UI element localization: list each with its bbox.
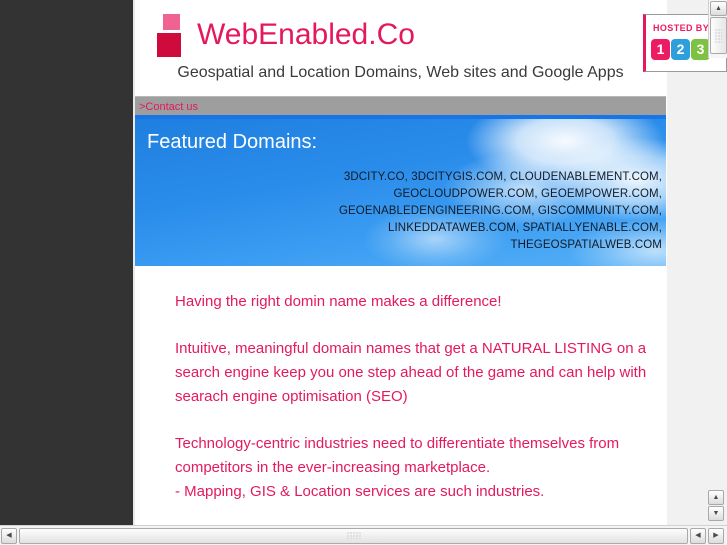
hosted-block-2: 2 (671, 39, 690, 60)
left-dark-panel (0, 0, 133, 525)
body-paragraph-2: Intuitive, meaningful domain names that … (175, 337, 656, 409)
scroll-left-button[interactable]: ◀ (1, 528, 17, 544)
grip-icon (715, 29, 722, 43)
horizontal-scrollbar-track[interactable] (19, 528, 688, 544)
scroll-right-button-end[interactable]: ▶ (708, 528, 724, 544)
chevron-left-icon: ◀ (695, 532, 700, 539)
site-header: WebEnabled.Co Geospatial and Location Do… (135, 0, 666, 97)
body-paragraph-3-line-2: - Mapping, GIS & Location services are s… (175, 483, 544, 500)
chevron-up-icon: ▲ (713, 494, 720, 501)
brand-title: WebEnabled.Co (197, 18, 415, 52)
chevron-up-icon: ▲ (715, 5, 722, 12)
scroll-up-button[interactable]: ▲ (710, 1, 727, 16)
web-page-content: WebEnabled.Co Geospatial and Location Do… (135, 0, 666, 525)
domain-line: THEGEOSPATIALWEB.COM (232, 237, 662, 254)
right-gutter (666, 0, 727, 525)
body-copy: Having the right domin name makes a diff… (135, 266, 666, 504)
nav-bar: >Contact us (135, 97, 666, 119)
chevron-left-icon: ◀ (6, 532, 11, 539)
banner-heading: Featured Domains: (147, 131, 317, 154)
horizontal-scrollbar[interactable]: ◀ ◀ ▶ (0, 525, 727, 545)
browser-viewport: WebEnabled.Co Geospatial and Location Do… (0, 0, 727, 545)
site-tagline: Geospatial and Location Domains, Web sit… (135, 64, 666, 82)
vertical-scrollbar-top[interactable]: ▲ (708, 0, 727, 58)
nav-link-contact-us[interactable]: >Contact us (139, 101, 198, 113)
logo-square-bottom-icon (157, 33, 181, 57)
vertical-scrollbar-bottom[interactable]: ▲ ▼ (708, 490, 726, 522)
domain-line: GEOCLOUDPOWER.COM, GEOEMPOWER.COM, (232, 186, 662, 203)
logo-square-top-icon (163, 14, 180, 30)
horizontal-scrollbar-endcaps[interactable]: ◀ ▶ (689, 528, 725, 544)
scroll-down-button[interactable]: ▼ (708, 506, 724, 521)
brand-row[interactable]: WebEnabled.Co (135, 6, 415, 64)
vertical-scrollbar-thumb[interactable] (710, 17, 727, 54)
featured-domain-list: 3DCITY.CO, 3DCITYGIS.COM, CLOUDENABLEMEN… (232, 169, 662, 254)
horizontal-scrollbar-thumb[interactable] (19, 528, 688, 544)
domain-line: LINKEDDATAWEB.COM, SPATIALLYENABLE.COM, (232, 220, 662, 237)
hosted-block-1: 1 (651, 39, 670, 60)
hosted-by-label: HOSTED BY (653, 23, 709, 33)
body-paragraph-1: Having the right domin name makes a diff… (175, 290, 656, 314)
domain-line: GEOENABLEDENGINEERING.COM, GISCOMMUNITY.… (232, 203, 662, 220)
scroll-up-button-bottom[interactable]: ▲ (708, 490, 724, 505)
body-paragraph-3-line-1: Technology-centric industries need to di… (175, 435, 619, 476)
featured-domains-banner: Featured Domains: 3DCITY.CO, 3DCITYGIS.C… (135, 119, 666, 266)
chevron-right-icon: ▶ (713, 532, 718, 539)
grip-icon (347, 532, 361, 539)
body-paragraph-3: Technology-centric industries need to di… (175, 432, 656, 504)
chevron-down-icon: ▼ (713, 510, 720, 517)
domain-line: 3DCITY.CO, 3DCITYGIS.COM, CLOUDENABLEMEN… (232, 169, 662, 186)
scroll-left-button-end[interactable]: ◀ (690, 528, 706, 544)
two-squares-logo-icon (155, 12, 189, 58)
